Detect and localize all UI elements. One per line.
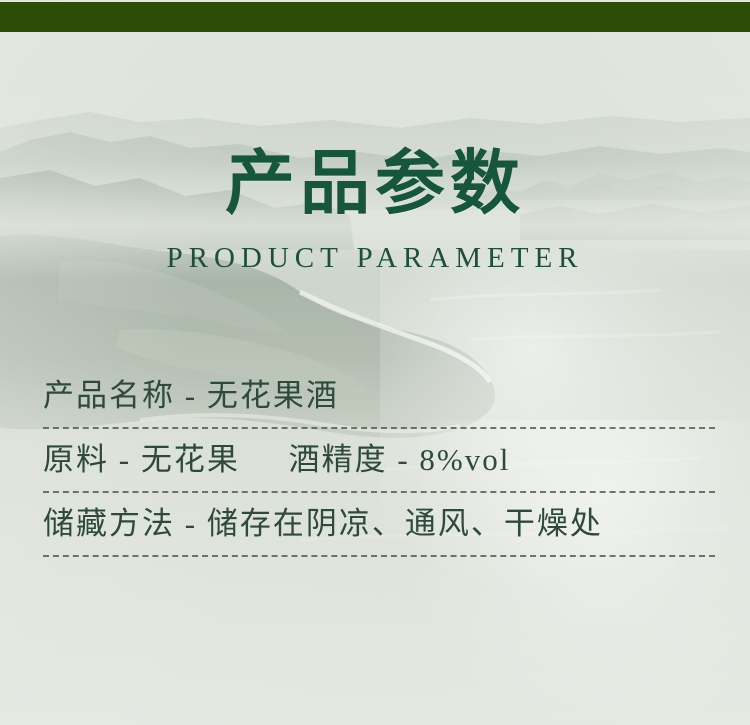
background-vignette: [0, 0, 750, 725]
parameter-divider-3: [43, 555, 715, 557]
parameter-row-ingredient-and-abv: 原料 - 无花果 酒精度 - 8%vol: [43, 429, 715, 491]
product-parameter-page: 产品参数 PRODUCT PARAMETER 产品名称 - 无花果酒 原料 - …: [0, 0, 750, 725]
parameter-row-storage: 储藏方法 - 储存在阴凉、通风、干燥处: [43, 493, 715, 555]
top-accent-bar: [0, 2, 750, 32]
page-title: 产品参数: [0, 150, 750, 220]
parameter-row-text: 原料 - 无花果 酒精度 - 8%vol: [43, 441, 510, 478]
parameter-row-product-name: 产品名称 - 无花果酒: [43, 365, 715, 427]
parameter-row-text: 产品名称 - 无花果酒: [43, 377, 339, 414]
parameter-list: 产品名称 - 无花果酒 原料 - 无花果 酒精度 - 8%vol 储藏方法 - …: [43, 365, 715, 557]
heading-block: 产品参数 PRODUCT PARAMETER: [0, 150, 750, 275]
page-subtitle: PRODUCT PARAMETER: [0, 242, 750, 275]
parameter-row-text: 储藏方法 - 储存在阴凉、通风、干燥处: [43, 505, 603, 542]
background-landscape-image: [0, 0, 750, 725]
